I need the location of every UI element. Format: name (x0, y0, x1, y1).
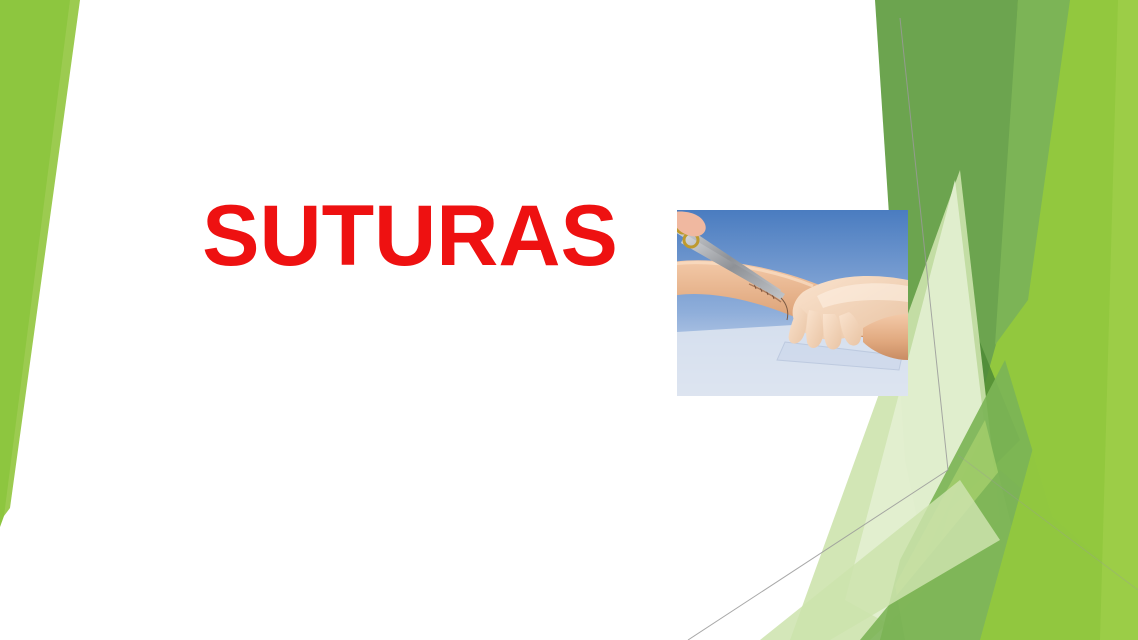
facet-bright-right (880, 0, 1138, 640)
presentation-slide: SUTURAS (0, 0, 1138, 640)
hairline-diagonal-extra (958, 455, 1138, 590)
facet-bottom-pale-tail (760, 480, 1000, 640)
facet-mid-sweep (880, 360, 1090, 640)
left-green-accent-shape (0, 0, 1138, 640)
title-placeholder[interactable]: SUTURAS (150, 176, 670, 296)
right-green-accent-shapes (0, 0, 1138, 640)
left-green-band (0, 0, 78, 527)
facet-right-highlight (1100, 0, 1138, 640)
left-green-band-edge (4, 0, 80, 516)
facet-mid-wedge (995, 0, 1070, 345)
hairline-diagonal-lower (688, 470, 948, 640)
photo-graphic (677, 210, 908, 396)
page-title: SUTURAS (202, 191, 618, 281)
facet-light-sweep (895, 420, 1040, 640)
facet-bright-lower-block (980, 300, 1138, 640)
facet-deep-triangle (940, 330, 1020, 520)
facet-bottom-tail (860, 470, 1138, 640)
suture-demonstration-photo[interactable] (677, 210, 908, 396)
